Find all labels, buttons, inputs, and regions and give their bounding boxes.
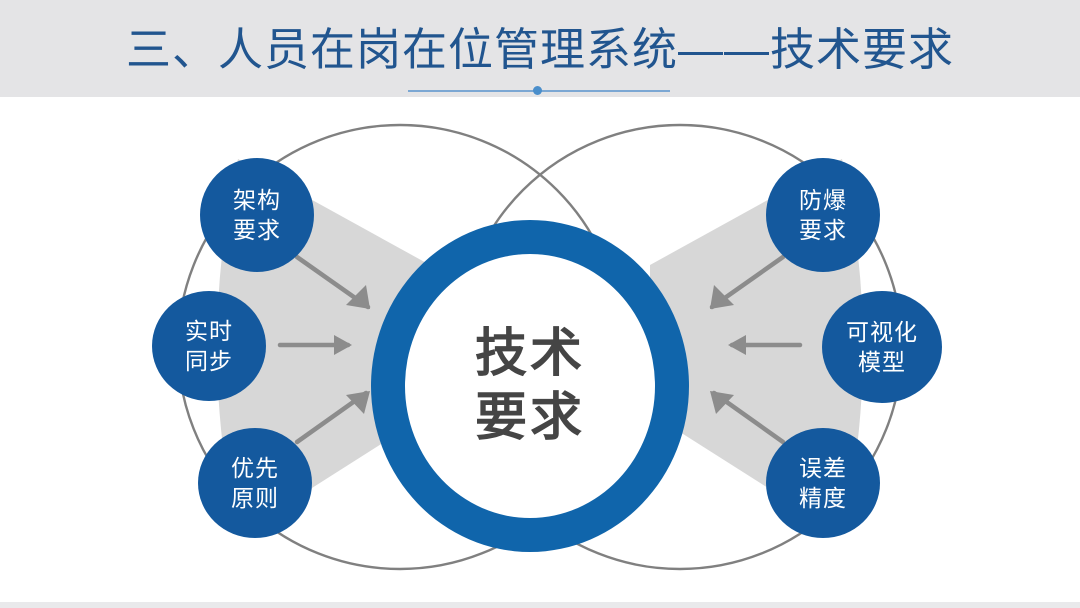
center-hub-line2: 要求 (475, 386, 585, 450)
node-realtime-sync[interactable]: 实时 同步 (152, 291, 266, 401)
node-explosion-proof[interactable]: 防爆 要求 (766, 158, 880, 272)
node-architecture[interactable]: 架构 要求 (200, 158, 314, 272)
node-architecture-line2: 要求 (233, 215, 281, 245)
node-realtime-sync-line2: 同步 (185, 346, 233, 376)
node-realtime-sync-line1: 实时 (185, 316, 233, 346)
node-priority-rule[interactable]: 优先 原则 (198, 428, 312, 538)
node-visual-model-line1: 可视化 (846, 317, 918, 347)
center-hub-label: 技术 要求 (475, 322, 585, 450)
node-visual-model-line2: 模型 (858, 347, 906, 377)
title-underline-dot (533, 86, 542, 95)
footer-strip (0, 602, 1080, 608)
node-visual-model[interactable]: 可视化 模型 (822, 291, 942, 403)
node-explosion-proof-line2: 要求 (799, 215, 847, 245)
slide: 三、人员在岗在位管理系统——技术要求 (0, 0, 1080, 608)
node-error-accuracy-line1: 误差 (799, 453, 847, 483)
node-architecture-line1: 架构 (233, 185, 281, 215)
page-title: 三、人员在岗在位管理系统——技术要求 (0, 22, 1080, 78)
node-error-accuracy-line2: 精度 (799, 483, 847, 513)
center-hub[interactable]: 技术 要求 (371, 220, 689, 552)
node-error-accuracy[interactable]: 误差 精度 (766, 428, 880, 538)
node-priority-rule-line2: 原则 (231, 483, 279, 513)
node-priority-rule-line1: 优先 (231, 453, 279, 483)
node-explosion-proof-line1: 防爆 (799, 185, 847, 215)
center-hub-line1: 技术 (475, 322, 585, 386)
